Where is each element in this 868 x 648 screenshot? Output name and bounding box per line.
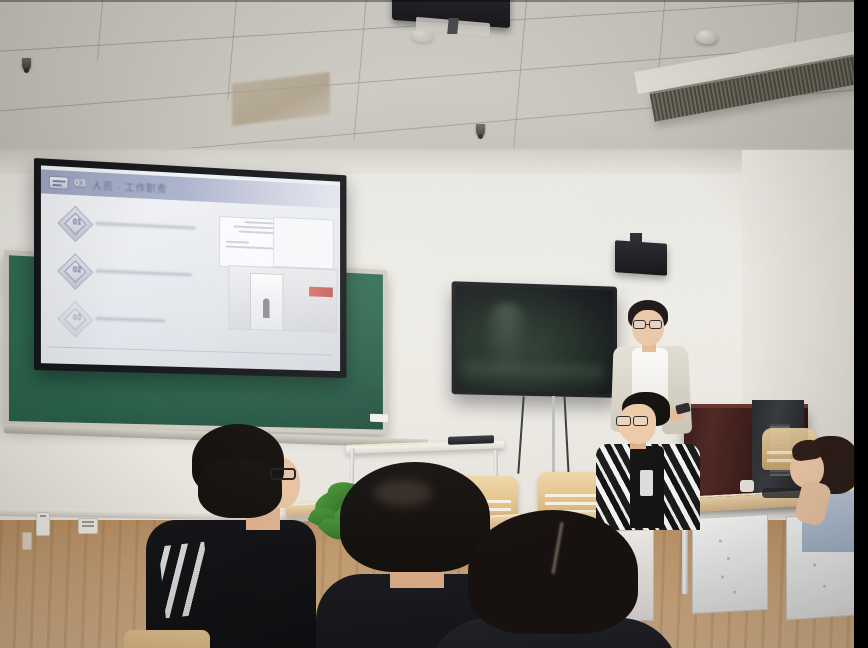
tshirt-print	[158, 542, 211, 618]
glasses-bridge	[646, 324, 650, 325]
desk-modesty-panel	[692, 514, 768, 614]
cup	[740, 480, 754, 492]
slide-row: 02	[63, 258, 192, 289]
student-foreground-left	[146, 424, 316, 648]
diamond-badge-icon: 03	[57, 301, 93, 338]
wall-mounted-tv	[452, 281, 617, 398]
diamond-badge-icon: 01	[57, 206, 93, 243]
ceiling-stain	[232, 72, 330, 126]
room-photo-thumbnail	[229, 265, 338, 333]
student-foreground-low	[438, 510, 674, 648]
slide-row-text	[96, 317, 165, 325]
wall-switch	[36, 512, 50, 536]
classroom-photo: 03 人员 · 工作职责 01 02	[0, 0, 868, 648]
sprinkler-icon	[476, 124, 485, 137]
wall-socket	[22, 532, 32, 550]
slide-number: 03	[74, 178, 86, 190]
wall-socket	[78, 518, 98, 534]
slide-row: 01	[63, 210, 196, 242]
sprinkler-icon	[22, 58, 31, 71]
chalk-eraser	[370, 414, 388, 423]
slide-logo-icon	[49, 175, 69, 189]
letterbox-top	[0, 0, 868, 2]
slide-row: 03	[63, 306, 166, 335]
diamond-badge-icon: 02	[57, 253, 93, 290]
smoke-detector-icon	[696, 30, 718, 44]
chair	[124, 630, 210, 648]
slide-row-text	[96, 222, 196, 233]
glasses-icon	[633, 416, 648, 426]
student-hair-lower	[198, 458, 282, 518]
remote-control	[448, 435, 494, 445]
glasses-icon	[616, 416, 631, 426]
slide-surface: 03 人员 · 工作职责 01 02	[41, 165, 340, 371]
slide-title: 人员 · 工作职责	[92, 177, 167, 196]
wall-speaker	[615, 240, 667, 276]
blank-thumbnail	[273, 217, 333, 270]
slide-footer-rule	[49, 346, 333, 355]
tv-glow	[464, 362, 604, 387]
glasses-icon	[633, 320, 646, 329]
glasses-icon	[649, 320, 662, 329]
hair-highlight	[374, 480, 432, 506]
projection-screen: 03 人员 · 工作职责 01 02	[34, 158, 346, 378]
glasses-icon	[270, 468, 296, 480]
ceiling-projector-arm	[447, 18, 459, 34]
letterbox-right	[854, 0, 868, 648]
slide-header: 03 人员 · 工作职责	[41, 169, 340, 208]
tee-print	[640, 470, 653, 496]
slide-row-text	[96, 269, 192, 279]
